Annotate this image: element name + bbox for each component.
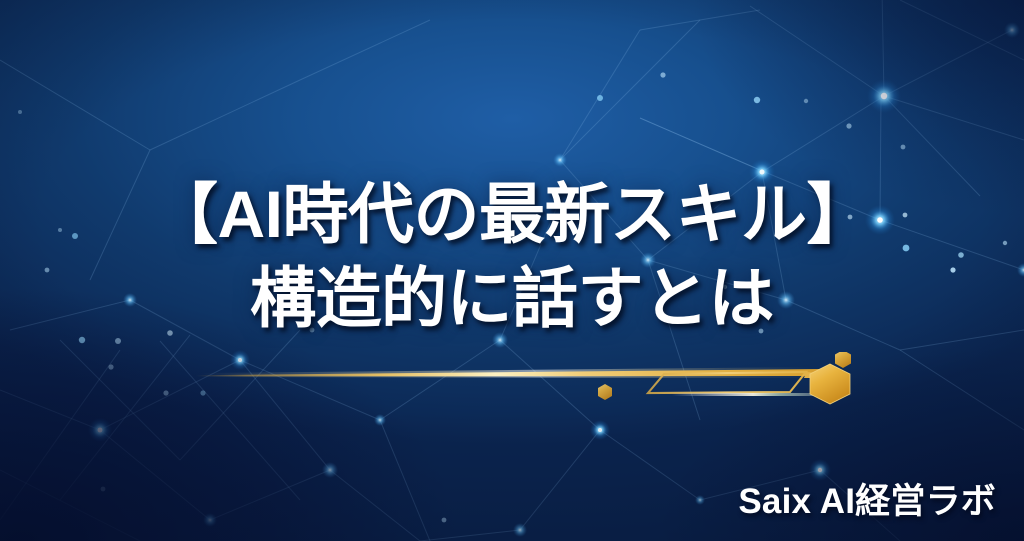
- headline: 【AI時代の最新スキル】 構造的に話すとは: [0, 172, 1024, 340]
- gold-divider: [0, 352, 1024, 414]
- headline-line-2: 構造的に話すとは: [0, 256, 1024, 340]
- brand-name: Saix AI経営ラボ: [738, 479, 996, 525]
- headline-line-1: 【AI時代の最新スキル】: [0, 172, 1024, 256]
- promotional-banner: 【AI時代の最新スキル】 構造的に話すとは: [0, 0, 1024, 541]
